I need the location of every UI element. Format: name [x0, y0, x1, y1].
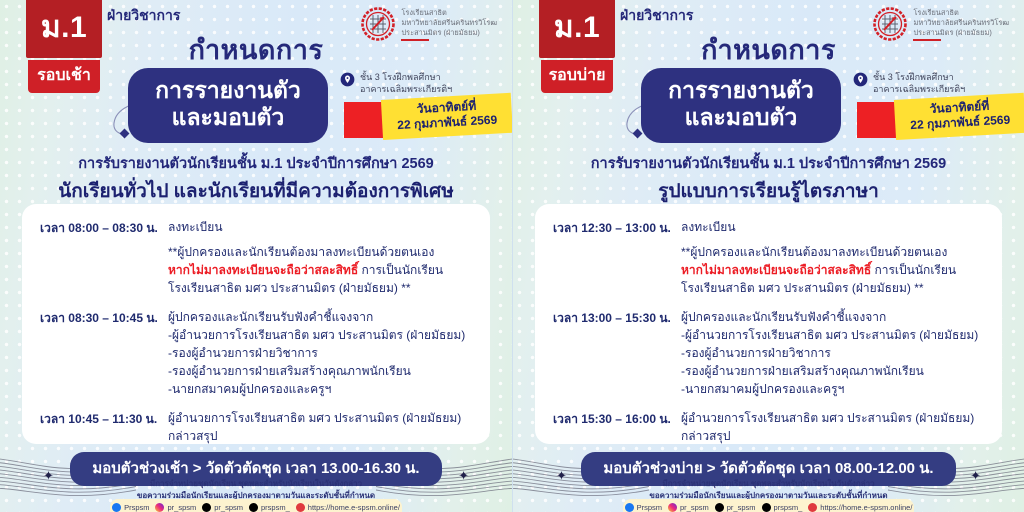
social-handle: prspsm_	[261, 503, 290, 512]
social-link[interactable]: pr_spsm	[715, 503, 756, 512]
schedule-sub-item: -ผู้อำนวยการโรงเรียนสาธิต มศว ประสานมิตร…	[681, 326, 986, 344]
venue-line1: ชั้น 3 โรงฝึกพลศึกษา	[360, 71, 452, 83]
red-ribbon-block	[344, 102, 384, 138]
date-ribbon: วันอาทิตย์ที่22 กุมภาพันธ์ 2569	[381, 93, 512, 140]
social-link[interactable]: prspsm_	[762, 503, 803, 512]
school-name-line2: มหาวิทยาลัยศรีนครินทรวิโรฒ	[401, 18, 497, 28]
venue-lines: ชั้น 3 โรงฝึกพลศึกษาอาคารเฉลิมพระเกียรติ…	[873, 71, 965, 95]
schedule-card: เวลา 12:30 – 13:00 น.ลงทะเบียน**ผู้ปกครอ…	[535, 204, 1002, 444]
spacer	[681, 236, 986, 243]
schedule-sub-item: -รองผู้อำนวยการฝ่ายวิชาการ	[681, 344, 986, 362]
social-bar: Prspsmpr_spsmpr_spsmprspsm_https://home.…	[110, 499, 402, 512]
schedule-note-line3: โรงเรียนสาธิต มศว ประสานมิตร (ฝ่ายมัธยม)…	[168, 279, 474, 297]
social-link[interactable]: Prspsm	[112, 503, 149, 512]
schedule-note-highlight: หากไม่มาลงทะเบียนจะถือว่าสละสิทธิ์	[681, 263, 871, 277]
schedule-description: ลงทะเบียน**ผู้ปกครองและนักเรียนต้องมาลงท…	[681, 218, 986, 297]
grade-level: ม.1	[539, 0, 615, 58]
schedule-time: เวลา 13:00 – 15:30 น.	[553, 308, 681, 398]
school-logo-text: โรงเรียนสาธิตมหาวิทยาลัยศรีนครินทรวิโรฒป…	[401, 7, 497, 41]
schedule-note-line2: หากไม่มาลงทะเบียนจะถือว่าสละสิทธิ์ การเป…	[168, 261, 474, 279]
schedule-item-head: ผู้อำนวยการโรงเรียนสาธิต มศว ประสานมิตร …	[168, 409, 474, 427]
schedule-note-line1: **ผู้ปกครองและนักเรียนต้องมาลงทะเบียนด้ว…	[168, 243, 474, 261]
social-handle: pr_spsm	[214, 503, 243, 512]
schedule-row: เวลา 10:45 – 11:30 น.ผู้อำนวยการโรงเรียน…	[40, 409, 474, 445]
school-crest-icon	[873, 7, 907, 41]
schedule-time: เวลา 08:30 – 10:45 น.	[40, 308, 168, 398]
schedule-row: เวลา 12:30 – 13:00 น.ลงทะเบียน**ผู้ปกครอ…	[553, 218, 986, 297]
title-pill-line2: และมอบตัว	[138, 104, 318, 131]
schedule-row: เวลา 13:00 – 15:30 น.ผู้ปกครองและนักเรีย…	[553, 308, 986, 398]
schedule-card: เวลา 08:00 – 08:30 น.ลงทะเบียน**ผู้ปกครอ…	[22, 204, 490, 444]
subtitle-block: การรับรายงานตัวนักเรียนชั้น ม.1 ประจำปีก…	[0, 152, 512, 206]
venue-line2: อาคารเฉลิมพระเกียรติฯ	[360, 83, 452, 95]
instagram-icon[interactable]	[155, 503, 164, 512]
subtitle-block: การรับรายงานตัวนักเรียนชั้น ม.1 ประจำปีก…	[513, 152, 1024, 206]
schedule-time: เวลา 10:45 – 11:30 น.	[40, 409, 168, 445]
social-link[interactable]: prspsm_	[249, 503, 290, 512]
logo-underline	[913, 39, 941, 41]
social-handle: Prspsm	[124, 503, 149, 512]
title-pill: การรายงานตัวและมอบตัว	[128, 68, 328, 143]
subtitle-secondary: นักเรียนทั่วไป และนักเรียนที่มีความต้องก…	[0, 176, 512, 206]
grade-level: ม.1	[26, 0, 102, 58]
school-name-line1: โรงเรียนสาธิต	[401, 8, 497, 18]
schedule-description: ผู้อำนวยการโรงเรียนสาธิต มศว ประสานมิตร …	[168, 409, 474, 445]
social-handle: https://home.e-spsm.online/	[308, 503, 400, 512]
poster-sheet: ✦✦ม.1รอบเช้าฝ่ายวิชาการโรงเรียนสาธิตมหาว…	[0, 0, 1024, 512]
footer-note-line1: มีการจำหน่ายชุดนักเรียน ชุดพละสำหรับนักเ…	[513, 478, 1024, 490]
schedule-sub-item: -นายกสมาคมผู้ปกครองและครูฯ	[681, 380, 986, 398]
schedule-sub-item: -นายกสมาคมผู้ปกครองและครูฯ	[168, 380, 474, 398]
schedule-item-head: ผู้ปกครองและนักเรียนรับฟังคำชี้แจงจาก	[681, 308, 986, 326]
venue-info: ชั้น 3 โรงฝึกพลศึกษาอาคารเฉลิมพระเกียรติ…	[853, 71, 965, 95]
schedule-note-tail: การเป็นนักเรียน	[871, 263, 956, 277]
school-logo: โรงเรียนสาธิตมหาวิทยาลัยศรีนครินทรวิโรฒป…	[873, 7, 1009, 41]
school-logo-text: โรงเรียนสาธิตมหาวิทยาลัยศรีนครินทรวิโรฒป…	[913, 7, 1009, 41]
social-link[interactable]: pr_spsm	[668, 503, 709, 512]
school-logo: โรงเรียนสาธิตมหาวิทยาลัยศรีนครินทรวิโรฒป…	[361, 7, 497, 41]
logo-underline	[401, 39, 429, 41]
schedule-sub-item: -ผู้อำนวยการโรงเรียนสาธิต มศว ประสานมิตร…	[168, 326, 474, 344]
poster-panel-morning: ✦✦ม.1รอบเช้าฝ่ายวิชาการโรงเรียนสาธิตมหาว…	[0, 0, 512, 512]
schedule-description: ผู้อำนวยการโรงเรียนสาธิต มศว ประสานมิตร …	[681, 409, 986, 445]
venue-lines: ชั้น 3 โรงฝึกพลศึกษาอาคารเฉลิมพระเกียรติ…	[360, 71, 452, 95]
department-label: ฝ่ายวิชาการ	[107, 5, 180, 27]
footer-note-line1: มีการจำหน่ายชุดนักเรียน ชุดพละสำหรับนักเ…	[0, 478, 512, 490]
social-link[interactable]: pr_spsm	[202, 503, 243, 512]
date-ribbon: วันอาทิตย์ที่22 กุมภาพันธ์ 2569	[894, 93, 1024, 140]
session-round: รอบเช้า	[28, 60, 100, 93]
instagram-icon[interactable]	[668, 503, 677, 512]
school-name-line1: โรงเรียนสาธิต	[913, 8, 1009, 18]
title-pill-line1: การรายงานตัว	[138, 77, 318, 104]
session-round: รอบบ่าย	[541, 60, 613, 93]
schedule-item-head: ผู้ปกครองและนักเรียนรับฟังคำชี้แจงจาก	[168, 308, 474, 326]
schedule-time: เวลา 08:00 – 08:30 น.	[40, 218, 168, 297]
schedule-sub-item: -รองผู้อำนวยการฝ่ายวิชาการ	[168, 344, 474, 362]
red-ribbon-block	[857, 102, 897, 138]
venue-info: ชั้น 3 โรงฝึกพลศึกษาอาคารเฉลิมพระเกียรติ…	[340, 71, 452, 95]
school-name-line3: ประสานมิตร (ฝ่ายมัธยม)	[913, 28, 1009, 38]
poster-panel-afternoon: ✦✦ม.1รอบบ่ายฝ่ายวิชาการโรงเรียนสาธิตมหาว…	[512, 0, 1024, 512]
school-crest-icon	[361, 7, 395, 41]
school-name-line2: มหาวิทยาลัยศรีนครินทรวิโรฒ	[913, 18, 1009, 28]
schedule-note-line2: หากไม่มาลงทะเบียนจะถือว่าสละสิทธิ์ การเป…	[681, 261, 986, 279]
schedule-item-head: ลงทะเบียน	[168, 218, 474, 236]
title-pill-line2: และมอบตัว	[651, 104, 831, 131]
social-handle: pr_spsm	[680, 503, 709, 512]
schedule-row: เวลา 08:00 – 08:30 น.ลงทะเบียน**ผู้ปกครอ…	[40, 218, 474, 297]
schedule-sub-item: กล่าวสรุป	[681, 427, 986, 445]
x-twitter-icon[interactable]	[202, 503, 211, 512]
schedule-note-line3: โรงเรียนสาธิต มศว ประสานมิตร (ฝ่ายมัธยม)…	[681, 279, 986, 297]
website-icon[interactable]	[296, 503, 305, 512]
tiktok-icon[interactable]	[249, 503, 258, 512]
grade-badge: ม.1รอบบ่าย	[539, 0, 615, 93]
social-link[interactable]: https://home.e-spsm.online/	[296, 503, 400, 512]
title-pill: การรายงานตัวและมอบตัว	[641, 68, 841, 143]
venue-line1: ชั้น 3 โรงฝึกพลศึกษา	[873, 71, 965, 83]
schedule-sub-item: -รองผู้อำนวยการฝ่ายเสริมสร้างคุณภาพนักเร…	[168, 362, 474, 380]
schedule-time: เวลา 12:30 – 13:00 น.	[553, 218, 681, 297]
website-icon[interactable]	[808, 503, 817, 512]
social-handle: https://home.e-spsm.online/	[820, 503, 912, 512]
grade-badge: ม.1รอบเช้า	[26, 0, 102, 93]
social-handle: Prspsm	[637, 503, 662, 512]
social-link[interactable]: pr_spsm	[155, 503, 196, 512]
schedule-item-head: ผู้อำนวยการโรงเรียนสาธิต มศว ประสานมิตร …	[681, 409, 986, 427]
schedule-time: เวลา 15:30 – 16:00 น.	[553, 409, 681, 445]
schedule-row: เวลา 08:30 – 10:45 น.ผู้ปกครองและนักเรีย…	[40, 308, 474, 398]
schedule-item-head: ลงทะเบียน	[681, 218, 986, 236]
schedule-description: ผู้ปกครองและนักเรียนรับฟังคำชี้แจงจาก-ผู…	[681, 308, 986, 398]
schedule-sub-item: -รองผู้อำนวยการฝ่ายเสริมสร้างคุณภาพนักเร…	[681, 362, 986, 380]
social-link[interactable]: Prspsm	[625, 503, 662, 512]
schedule-note-tail: การเป็นนักเรียน	[358, 263, 443, 277]
subtitle-secondary: รูปแบบการเรียนรู้ไตรภาษา	[513, 176, 1024, 206]
school-name-line3: ประสานมิตร (ฝ่ายมัธยม)	[401, 28, 497, 38]
social-handle: pr_spsm	[727, 503, 756, 512]
venue-line2: อาคารเฉลิมพระเกียรติฯ	[873, 83, 965, 95]
spacer	[168, 236, 474, 243]
x-twitter-icon[interactable]	[715, 503, 724, 512]
social-handle: prspsm_	[774, 503, 803, 512]
schedule-row: เวลา 15:30 – 16:00 น.ผู้อำนวยการโรงเรียน…	[553, 409, 986, 445]
location-pin-icon	[853, 72, 868, 87]
social-handle: pr_spsm	[167, 503, 196, 512]
subtitle-primary: การรับรายงานตัวนักเรียนชั้น ม.1 ประจำปีก…	[513, 152, 1024, 175]
location-pin-icon	[340, 72, 355, 87]
facebook-icon[interactable]	[625, 503, 634, 512]
facebook-icon[interactable]	[112, 503, 121, 512]
tiktok-icon[interactable]	[762, 503, 771, 512]
schedule-description: ผู้ปกครองและนักเรียนรับฟังคำชี้แจงจาก-ผู…	[168, 308, 474, 398]
subtitle-primary: การรับรายงานตัวนักเรียนชั้น ม.1 ประจำปีก…	[0, 152, 512, 175]
schedule-sub-item: กล่าวสรุป	[168, 427, 474, 445]
social-link[interactable]: https://home.e-spsm.online/	[808, 503, 912, 512]
schedule-description: ลงทะเบียน**ผู้ปกครองและนักเรียนต้องมาลงท…	[168, 218, 474, 297]
schedule-note-highlight: หากไม่มาลงทะเบียนจะถือว่าสละสิทธิ์	[168, 263, 358, 277]
social-bar: Prspsmpr_spsmpr_spsmprspsm_https://home.…	[623, 499, 914, 512]
department-label: ฝ่ายวิชาการ	[620, 5, 693, 27]
schedule-note-line1: **ผู้ปกครองและนักเรียนต้องมาลงทะเบียนด้ว…	[681, 243, 986, 261]
title-pill-line1: การรายงานตัว	[651, 77, 831, 104]
